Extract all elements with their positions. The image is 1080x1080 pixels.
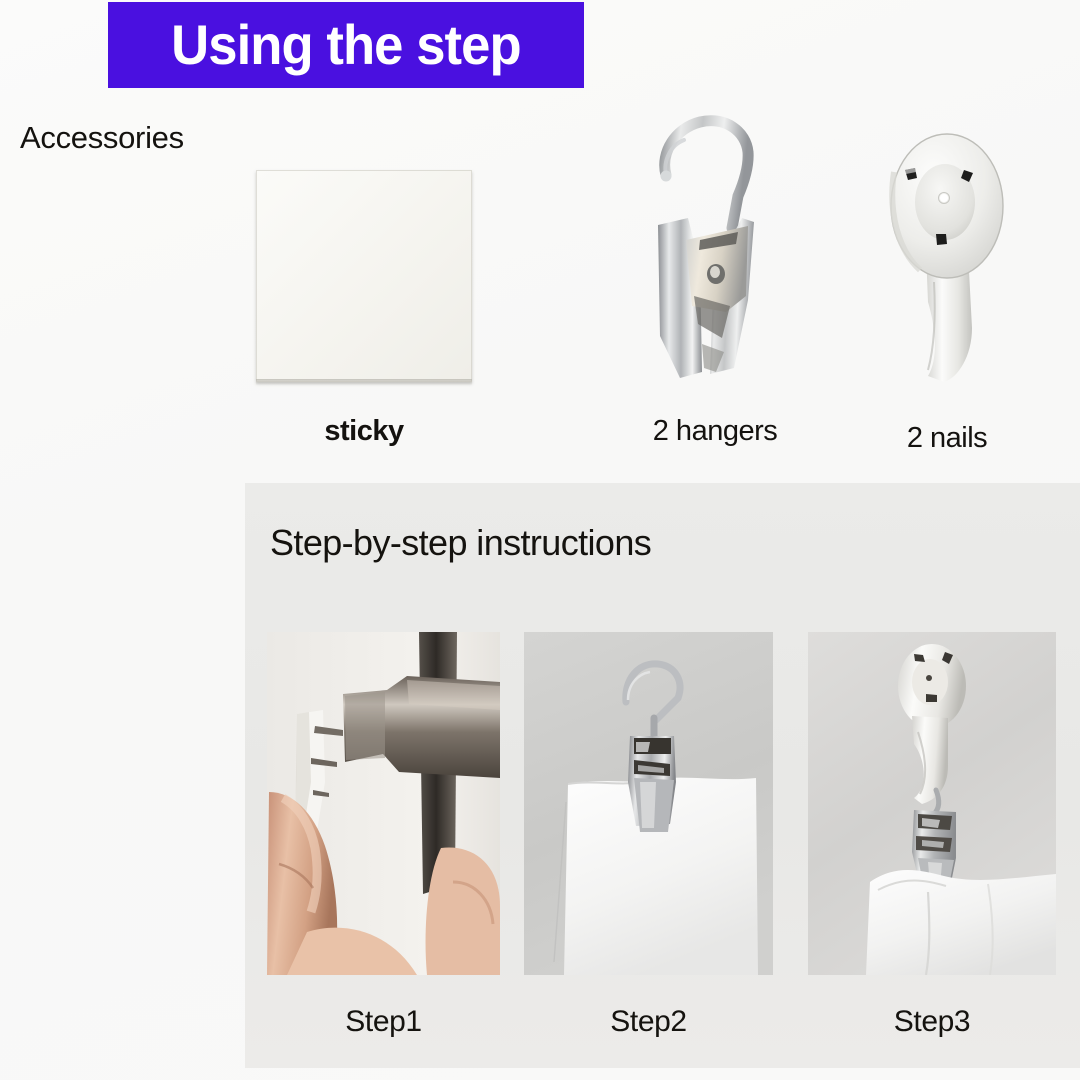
title-banner: Using the step xyxy=(108,2,584,88)
step-caption-2: Step2 xyxy=(524,1005,773,1039)
product-instruction-graphic: Using the step Accessories sticky xyxy=(0,0,1080,1080)
accessory-caption-nails: 2 nails xyxy=(872,422,1022,455)
hanger-clip-icon xyxy=(630,100,800,390)
mounted-hook-with-clip-photo xyxy=(808,632,1056,975)
accessory-caption-hangers: 2 hangers xyxy=(620,415,810,448)
page-title: Using the step xyxy=(171,17,521,73)
clip-holding-sheet-photo xyxy=(524,632,773,975)
step-caption-1: Step1 xyxy=(267,1005,500,1039)
adhesive-pad-icon xyxy=(256,170,472,382)
step-caption-3: Step3 xyxy=(808,1005,1056,1039)
hammer-nail-photo xyxy=(267,632,500,975)
wall-hook-nail-icon xyxy=(872,132,1022,387)
accessories-section-label: Accessories xyxy=(20,120,184,156)
accessory-caption-sticky: sticky xyxy=(256,415,472,448)
instructions-heading: Step-by-step instructions xyxy=(270,522,651,564)
